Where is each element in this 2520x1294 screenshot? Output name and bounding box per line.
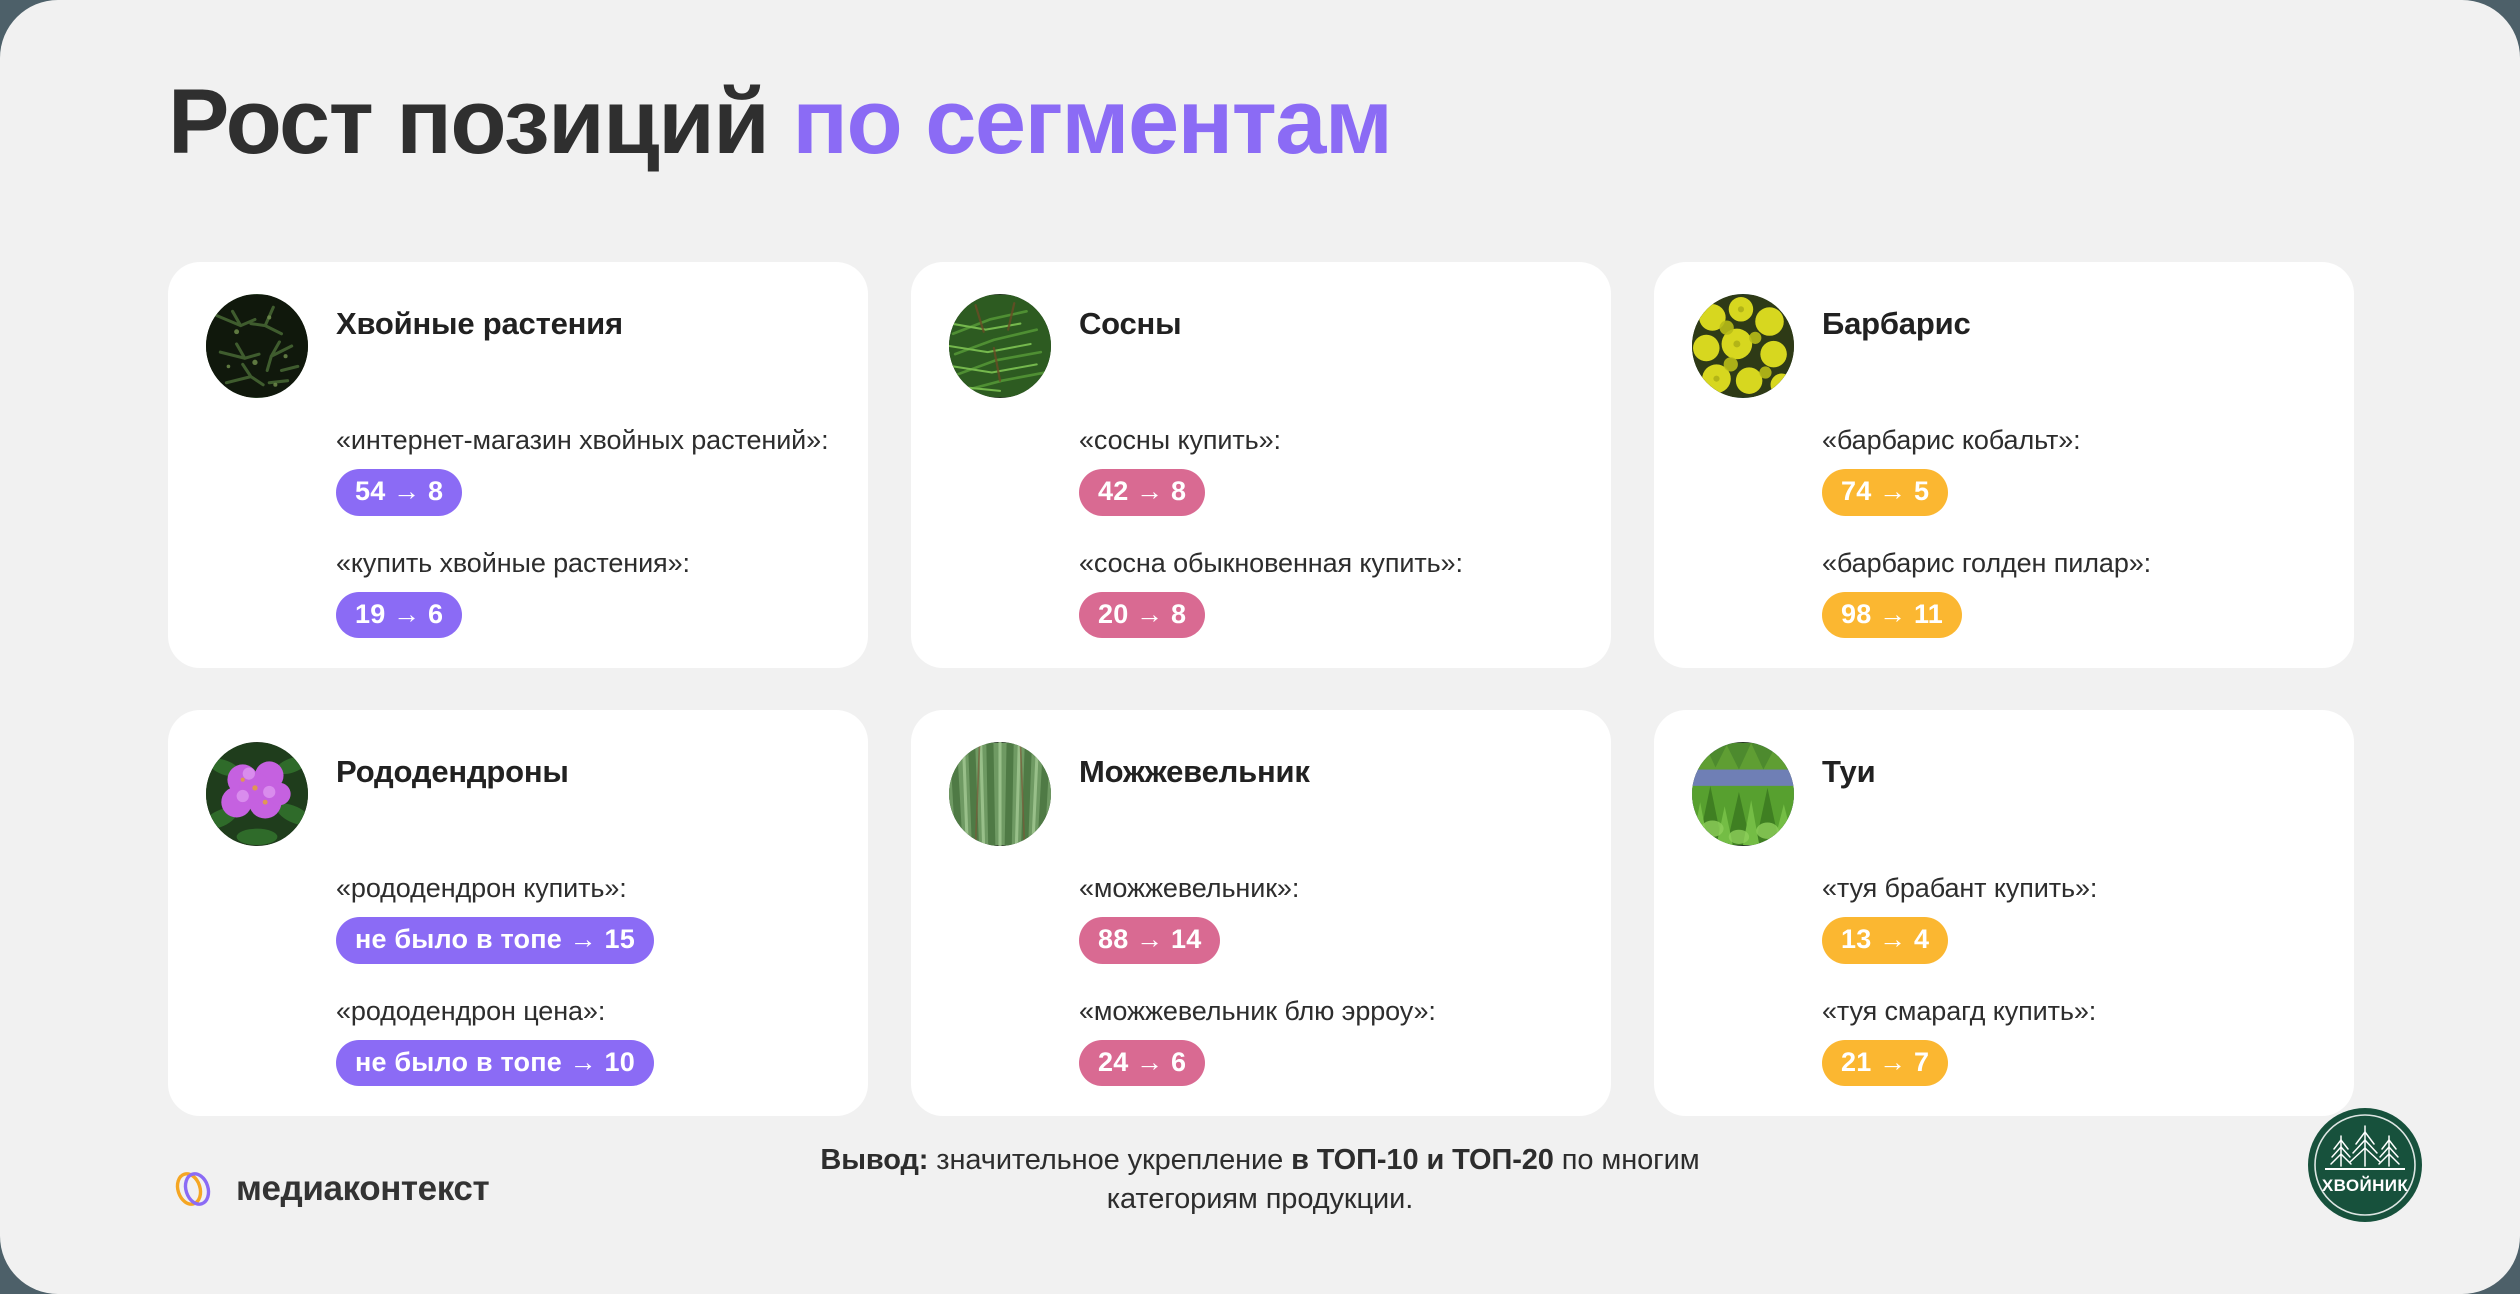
segment-card-body: «сосны купить»:42 → 8«сосна обыкновенная…: [1079, 374, 1577, 640]
segment-card-body: «интернет-магазин хвойных растений»:54 →…: [336, 374, 834, 640]
client-brand-badge: ХВОЙНИК: [2308, 1108, 2422, 1222]
keyword-label: «можжевельник блю эрроу»:: [1079, 994, 1577, 1029]
segment-card: Туи«туя брабант купить»:13 → 4«туя смара…: [1654, 710, 2354, 1116]
juniper-photo: [949, 742, 1051, 846]
keyword-block: «интернет-магазин хвойных растений»:54 →…: [336, 423, 834, 515]
keyword-block: «можжевельник блю эрроу»:24 → 6: [1079, 994, 1577, 1086]
page-title-lead: Рост позиций: [168, 71, 792, 173]
conifer-photo: [206, 294, 308, 398]
position-change-badge: 98 → 11: [1822, 592, 1962, 638]
keyword-label: «туя смарагд купить»:: [1822, 994, 2320, 1029]
position-change-badge: 21 → 7: [1822, 1040, 1948, 1086]
segment-card-title: Рододендроны: [336, 742, 569, 790]
position-change-badge: 42 → 8: [1079, 469, 1205, 515]
position-change-badge: 19 → 6: [336, 592, 462, 638]
position-change-badge: 13 → 4: [1822, 917, 1948, 963]
position-change-badge: не было в топе → 10: [336, 1040, 654, 1086]
segment-card-title: Барбарис: [1822, 294, 1970, 342]
segment-card: Барбарис«барбарис кобальт»:74 → 5«барбар…: [1654, 262, 2354, 668]
conclusion-part: в ТОП-10 и ТОП-20: [1291, 1144, 1554, 1176]
keyword-label: «интернет-магазин хвойных растений»:: [336, 423, 834, 458]
agency-logo: медиаконтекст: [168, 1164, 489, 1214]
position-change-badge: не было в топе → 15: [336, 917, 654, 963]
position-change-badge: 20 → 8: [1079, 592, 1205, 638]
segment-card-body: «барбарис кобальт»:74 → 5«барбарис голде…: [1822, 374, 2320, 640]
barberry-photo: [1692, 294, 1794, 398]
rhododendron-photo: [206, 742, 308, 846]
segment-card-grid: Хвойные растения«интернет-магазин хвойны…: [168, 262, 2354, 1116]
media-context-rings-icon: [168, 1164, 218, 1214]
keyword-label: «рододендрон купить»:: [336, 871, 834, 906]
segment-card: Рододендроны«рододендрон купить»:не было…: [168, 710, 868, 1116]
keyword-block: «сосны купить»:42 → 8: [1079, 423, 1577, 515]
keyword-block: «барбарис кобальт»:74 → 5: [1822, 423, 2320, 515]
segment-card-title: Можжевельник: [1079, 742, 1310, 790]
segment-card-body: «рододендрон купить»:не было в топе → 15…: [336, 822, 834, 1088]
agency-name: медиаконтекст: [236, 1169, 489, 1209]
keyword-block: «рододендрон цена»:не было в топе → 10: [336, 994, 834, 1086]
segment-card-title: Туи: [1822, 742, 1875, 790]
keyword-block: «туя брабант купить»:13 → 4: [1822, 871, 2320, 963]
keyword-label: «сосны купить»:: [1079, 423, 1577, 458]
slide-root: Рост позиций по сегментам Хвойные растен…: [0, 0, 2520, 1294]
position-change-badge: 88 → 14: [1079, 917, 1220, 963]
keyword-block: «сосна обыкновенная купить»:20 → 8: [1079, 546, 1577, 638]
keyword-block: «рододендрон купить»:не было в топе → 15: [336, 871, 834, 963]
keyword-block: «можжевельник»:88 → 14: [1079, 871, 1577, 963]
keyword-label: «барбарис голден пилар»:: [1822, 546, 2320, 581]
page-title-accent: по сегментам: [792, 71, 1391, 173]
segment-card-body: «можжевельник»:88 → 14«можжевельник блю …: [1079, 822, 1577, 1088]
conclusion-part: Вывод:: [820, 1144, 928, 1176]
segment-card: Хвойные растения«интернет-магазин хвойны…: [168, 262, 868, 668]
segment-card-title: Сосны: [1079, 294, 1181, 342]
thuja-photo: [1692, 742, 1794, 846]
client-brand-text: ХВОЙНИК: [2322, 1176, 2409, 1195]
keyword-label: «рододендрон цена»:: [336, 994, 834, 1029]
segment-card: Сосны«сосны купить»:42 → 8«сосна обыкнов…: [911, 262, 1611, 668]
keyword-block: «купить хвойные растения»:19 → 6: [336, 546, 834, 638]
position-change-badge: 74 → 5: [1822, 469, 1948, 515]
position-change-badge: 54 → 8: [336, 469, 462, 515]
keyword-label: «барбарис кобальт»:: [1822, 423, 2320, 458]
conclusion-text: Вывод: значительное укрепление в ТОП-10 …: [810, 1141, 1710, 1219]
conclusion-part: значительное укрепление: [928, 1144, 1291, 1176]
segment-card: Можжевельник«можжевельник»:88 → 14«можже…: [911, 710, 1611, 1116]
pine-photo: [949, 294, 1051, 398]
keyword-label: «купить хвойные растения»:: [336, 546, 834, 581]
position-change-badge: 24 → 6: [1079, 1040, 1205, 1086]
segment-card-title: Хвойные растения: [336, 294, 623, 342]
keyword-label: «сосна обыкновенная купить»:: [1079, 546, 1577, 581]
keyword-block: «туя смарагд купить»:21 → 7: [1822, 994, 2320, 1086]
keyword-block: «барбарис голден пилар»:98 → 11: [1822, 546, 2320, 638]
segment-card-body: «туя брабант купить»:13 → 4«туя смарагд …: [1822, 822, 2320, 1088]
keyword-label: «можжевельник»:: [1079, 871, 1577, 906]
page-title: Рост позиций по сегментам: [168, 76, 1391, 170]
keyword-label: «туя брабант купить»:: [1822, 871, 2320, 906]
